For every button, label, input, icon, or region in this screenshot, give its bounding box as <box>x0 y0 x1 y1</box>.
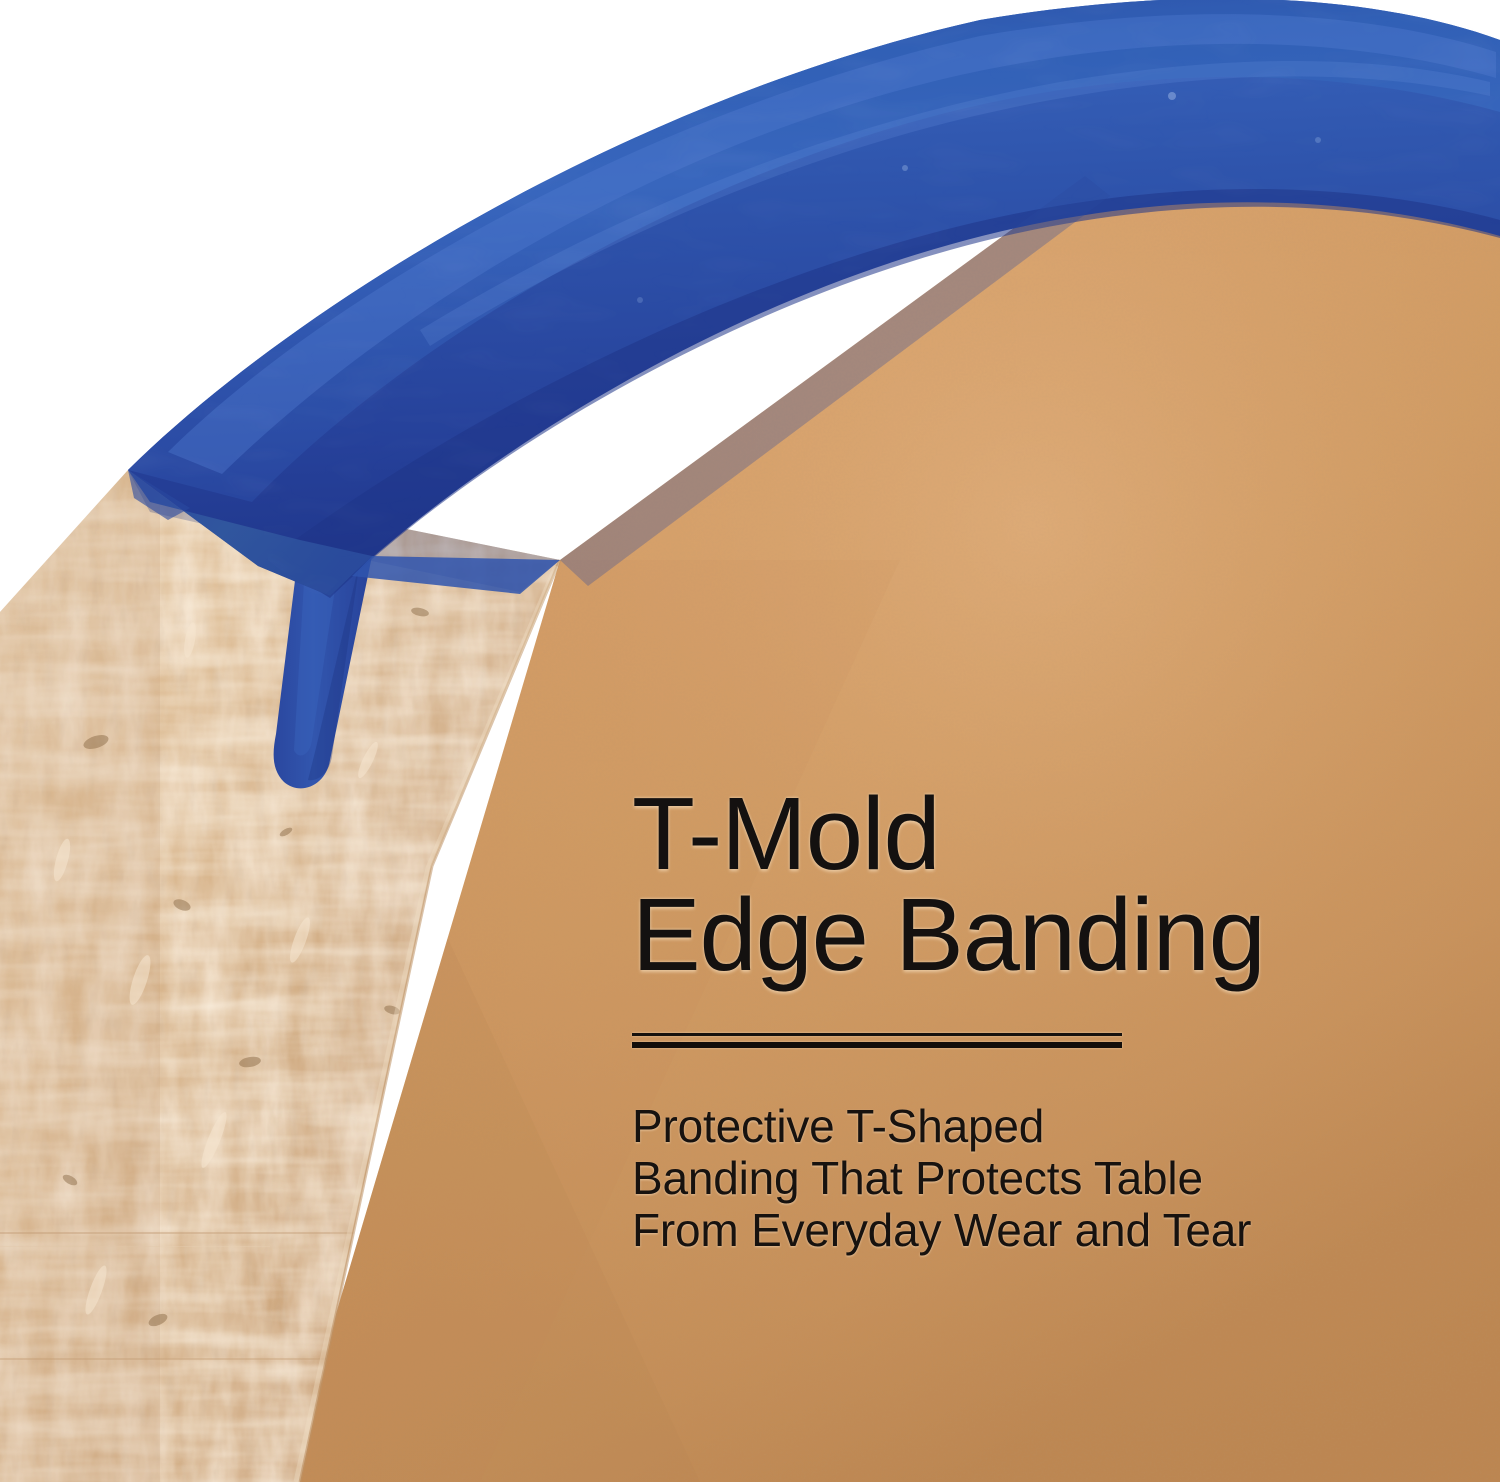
subcopy-line-3: From Everyday Wear and Tear <box>632 1204 1392 1256</box>
product-photo <box>0 0 1500 1482</box>
subcopy-line-2: Banding That Protects Table <box>632 1152 1392 1204</box>
copy-block: T-Mold Edge Banding Protective T-Shaped … <box>632 783 1392 1256</box>
double-rule-divider <box>632 1033 1122 1048</box>
headline-line-1: T-Mold <box>632 783 1392 884</box>
headline-line-2: Edge Banding <box>632 884 1392 985</box>
subcopy-line-1: Protective T-Shaped <box>632 1048 1392 1152</box>
product-feature-image: T-Mold Edge Banding Protective T-Shaped … <box>0 0 1500 1482</box>
